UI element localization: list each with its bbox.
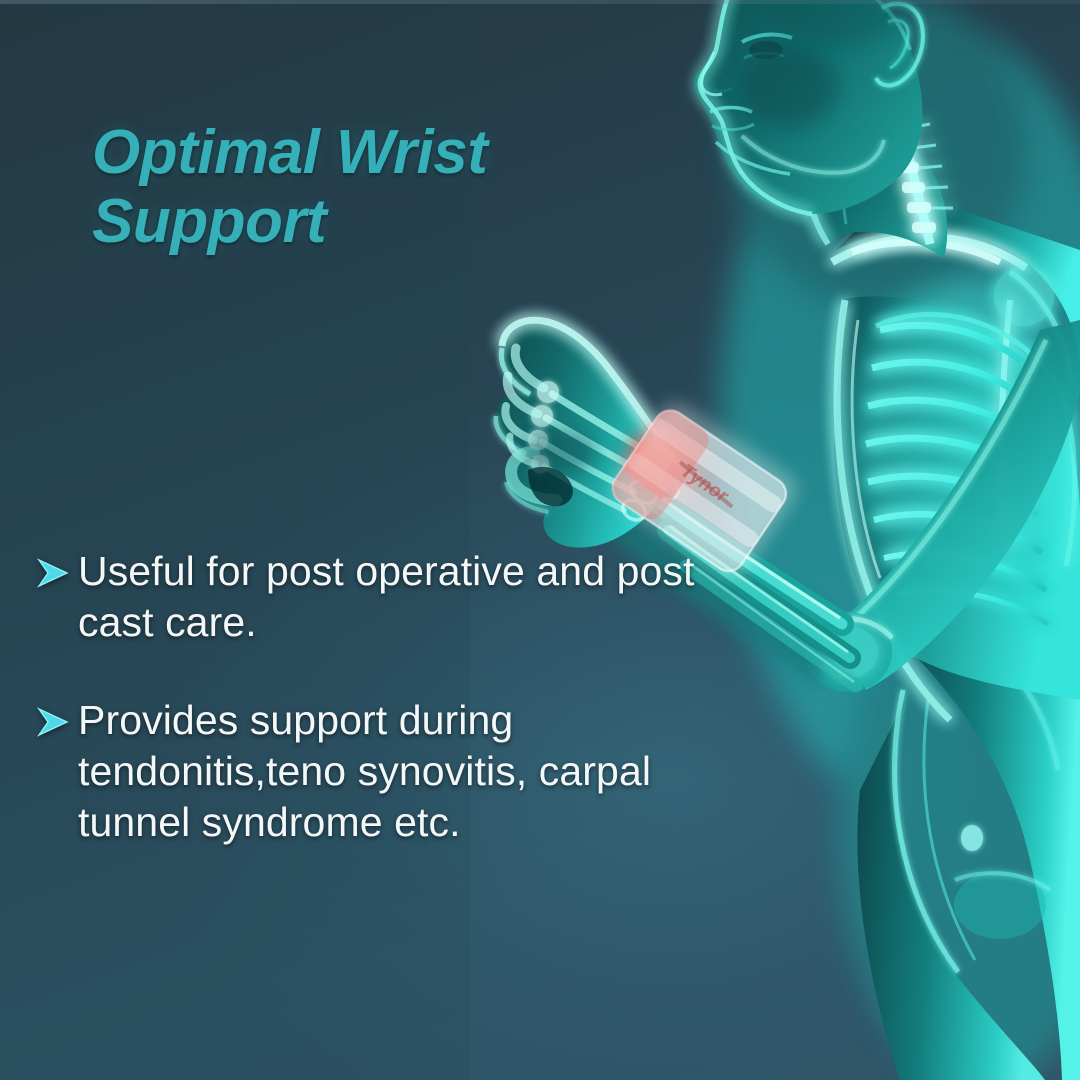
list-item-label: Provides support during tendonitis,teno …: [78, 695, 696, 849]
arrow-bullet-icon: [36, 546, 78, 588]
headline-line-1: Optimal Wrist: [92, 118, 487, 187]
headline-line-2: Support: [92, 187, 612, 256]
list-item: Provides support during tendonitis,teno …: [36, 695, 696, 849]
feature-list: Useful for post operative and post cast …: [36, 546, 696, 848]
list-item-label: Useful for post operative and post cast …: [78, 546, 696, 649]
poster-canvas: Tynor Optimal Wrist Support: [0, 0, 1080, 1080]
brace-brand-label: Tynor: [677, 461, 733, 508]
page-title: Optimal Wrist Support: [92, 118, 612, 257]
list-item: Useful for post operative and post cast …: [36, 546, 696, 649]
top-edge-strip: [0, 0, 1080, 4]
arrow-bullet-icon: [36, 695, 78, 737]
